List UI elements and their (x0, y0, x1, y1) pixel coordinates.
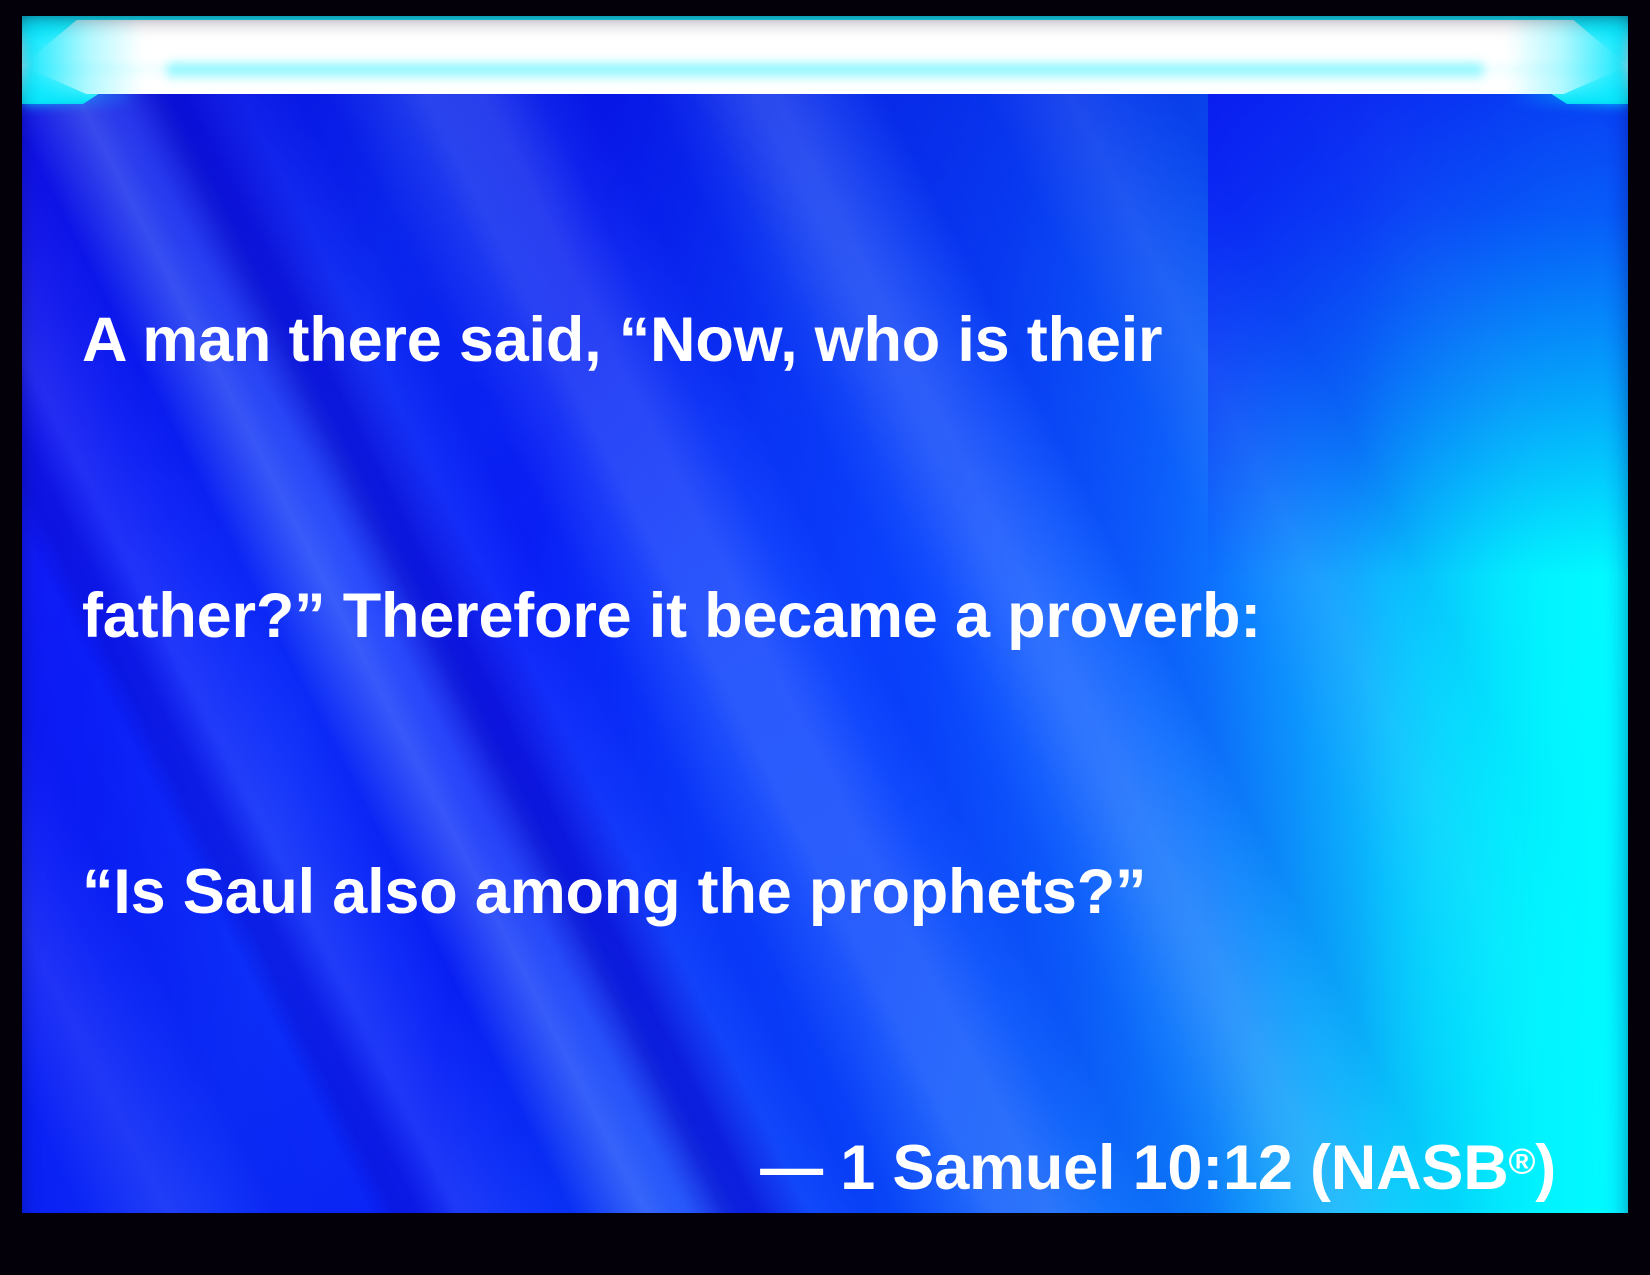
verse-attribution: — 1 Samuel 10:12 (NASB®) (82, 1122, 1562, 1214)
frame-border-top (0, 0, 1650, 16)
banner-white-layer (22, 20, 1628, 94)
verse-line-3: “Is Saul also among the prophets?” (82, 846, 1562, 938)
registered-trademark-icon: ® (1509, 1141, 1536, 1182)
frame-border-bottom (0, 1213, 1650, 1275)
verse-line-2: father?” Therefore it became a proverb: (82, 570, 1562, 662)
verse-line-1: A man there said, “Now, who is their (82, 294, 1562, 386)
verse-slide: A man there said, “Now, who is their fat… (0, 0, 1650, 1275)
top-banner (22, 16, 1628, 104)
verse-text-block: A man there said, “Now, who is their fat… (82, 110, 1562, 1275)
banner-right-glow (1508, 16, 1628, 104)
frame-border-right (1628, 0, 1650, 1275)
banner-left-glow (22, 16, 142, 104)
banner-inner-glow (167, 60, 1484, 82)
attribution-main: — 1 Samuel 10:12 (NASB (760, 1133, 1508, 1203)
frame-border-left (0, 0, 22, 1275)
attribution-close-paren: ) (1535, 1133, 1556, 1203)
